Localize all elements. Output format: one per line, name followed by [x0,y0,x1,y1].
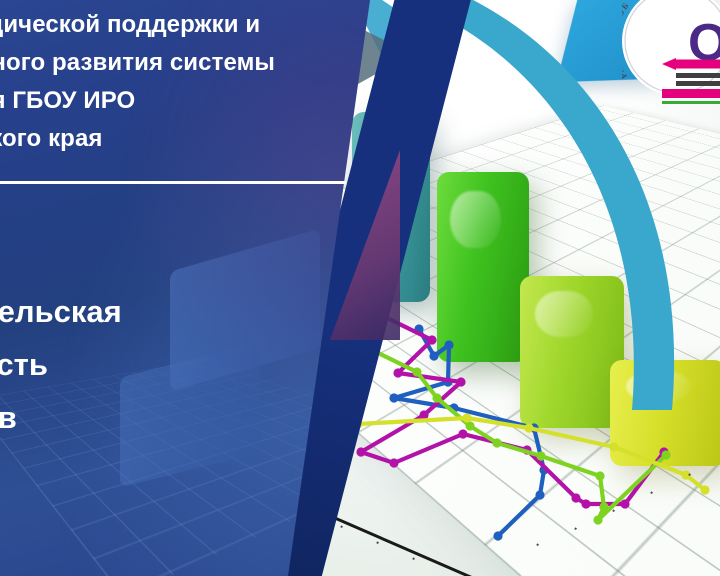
header-line-3: ния ГБОУ ИРО [0,82,382,120]
logo-bar-magenta [662,89,720,98]
chart-data-point [581,499,590,508]
title-line-1: АР [0,232,388,285]
chart-data-point [595,471,604,480]
chart-data-point [571,493,580,502]
chart-data-point [700,485,709,494]
chart-data-point [599,502,608,511]
title-line-3: ентность [0,338,388,391]
logo-bar-dark-1 [676,73,720,78]
title-text-block: АР довательская ентность листов [0,232,388,444]
chart-data-point [493,531,502,540]
logo-artwork: РАЗВИТИЯ ОБ О [622,0,720,104]
slide-canvas: ▪ ▪ ▪ ▪ ▪ ▪ ▪ ▪ ▪ ▪ ▪ тодической поддерж… [0,0,720,576]
header-text-block: тодической поддержки и онного развития с… [0,6,382,158]
header-divider-rule [0,181,346,184]
chart-data-point [535,490,544,499]
logo-bar-green [662,101,720,104]
chart-data-point [620,499,629,508]
header-line-4: рского края [0,120,382,158]
logo-pencil-body [676,60,720,69]
header-line-1: тодической поддержки и [0,6,382,44]
logo-bar-dark-2 [676,81,720,86]
title-line-4: листов [0,391,388,444]
chart-data-point [593,515,602,524]
title-line-2: довательская [0,285,388,338]
header-line-2: онного развития системы [0,44,382,82]
institute-logo: РАЗВИТИЯ ОБ О [622,0,720,104]
